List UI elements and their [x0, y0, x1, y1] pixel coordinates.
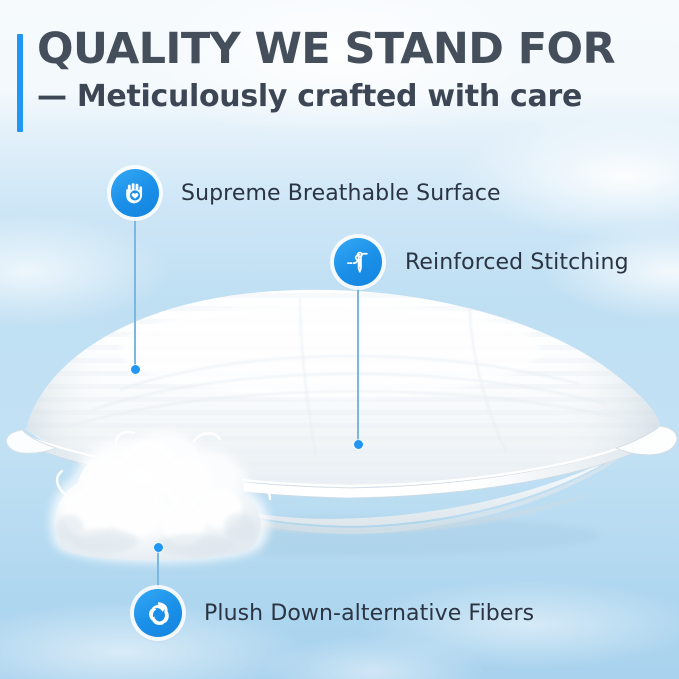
feature-plush-down-alternative-fibers[interactable]: Plush Down-alternative Fibers [134, 589, 534, 637]
feature-supreme-breathable-surface[interactable]: Supreme Breathable Surface [111, 169, 501, 217]
feature-label: Plush Down-alternative Fibers [204, 601, 534, 626]
needle-thread-icon [334, 238, 382, 286]
leader-line-breathable [134, 218, 136, 370]
leader-dot-breathable [131, 365, 140, 374]
leader-line-fibers [157, 549, 159, 591]
page-subtitle: — Meticulously crafted with care [37, 82, 582, 112]
accent-bar [17, 34, 23, 132]
infographic-canvas: QUALITY WE STAND FOR — Meticulously craf… [0, 0, 679, 679]
fiber-cluster [44, 425, 284, 575]
page-title: QUALITY WE STAND FOR [37, 28, 615, 71]
feature-label: Reinforced Stitching [405, 250, 629, 275]
leader-dot-fibers [154, 543, 163, 552]
feature-label: Supreme Breathable Surface [181, 181, 501, 206]
header: QUALITY WE STAND FOR — Meticulously craf… [0, 0, 679, 150]
hand-heart-icon [111, 169, 159, 217]
fiber-swirl-icon [134, 589, 182, 637]
leader-dot-stitching [354, 440, 363, 449]
feature-reinforced-stitching[interactable]: Reinforced Stitching [334, 238, 629, 286]
leader-line-stitching [357, 287, 359, 445]
